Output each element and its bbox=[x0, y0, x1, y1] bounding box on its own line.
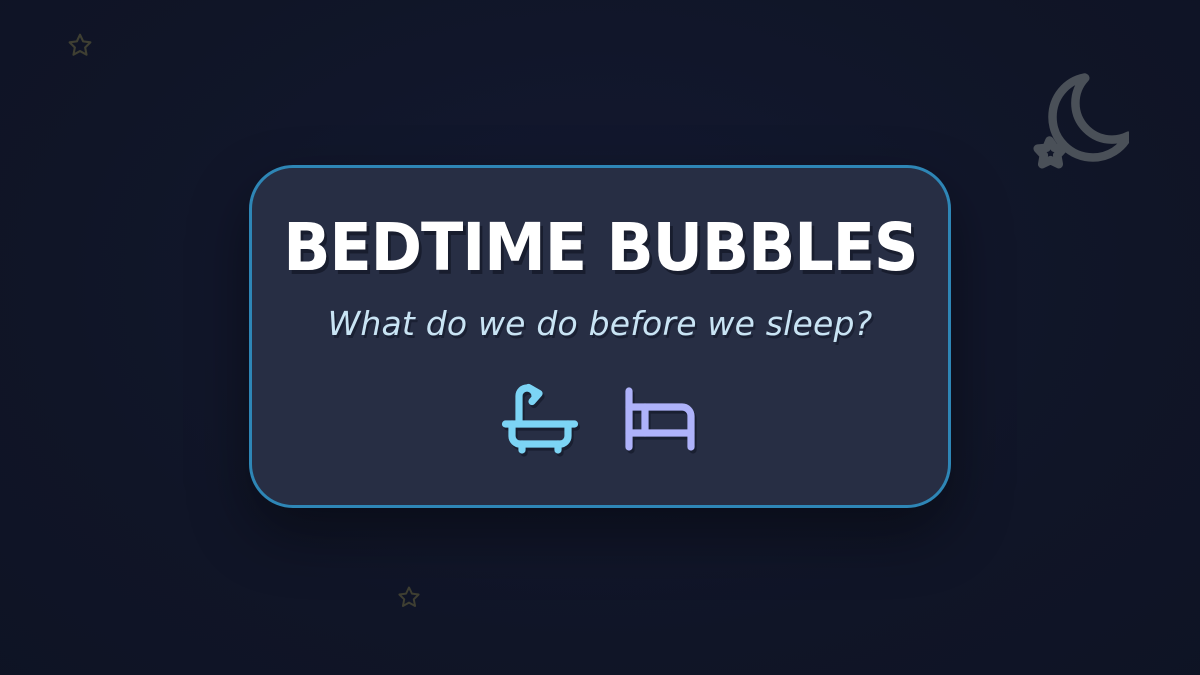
slide-canvas: BEDTIME BUBBLES What do we do before we … bbox=[0, 0, 1200, 675]
title-card: BEDTIME BUBBLES What do we do before we … bbox=[249, 165, 951, 508]
card-content: BEDTIME BUBBLES What do we do before we … bbox=[252, 168, 948, 455]
page-title: BEDTIME BUBBLES bbox=[283, 215, 917, 281]
star-icon bbox=[66, 31, 94, 59]
bathtub-icon bbox=[501, 379, 579, 455]
star-icon bbox=[396, 584, 422, 610]
page-subtitle: What do we do before we sleep? bbox=[328, 304, 873, 343]
bed-icon bbox=[621, 379, 699, 455]
moon-star-icon bbox=[1029, 68, 1129, 170]
activity-icon-row bbox=[501, 379, 699, 455]
